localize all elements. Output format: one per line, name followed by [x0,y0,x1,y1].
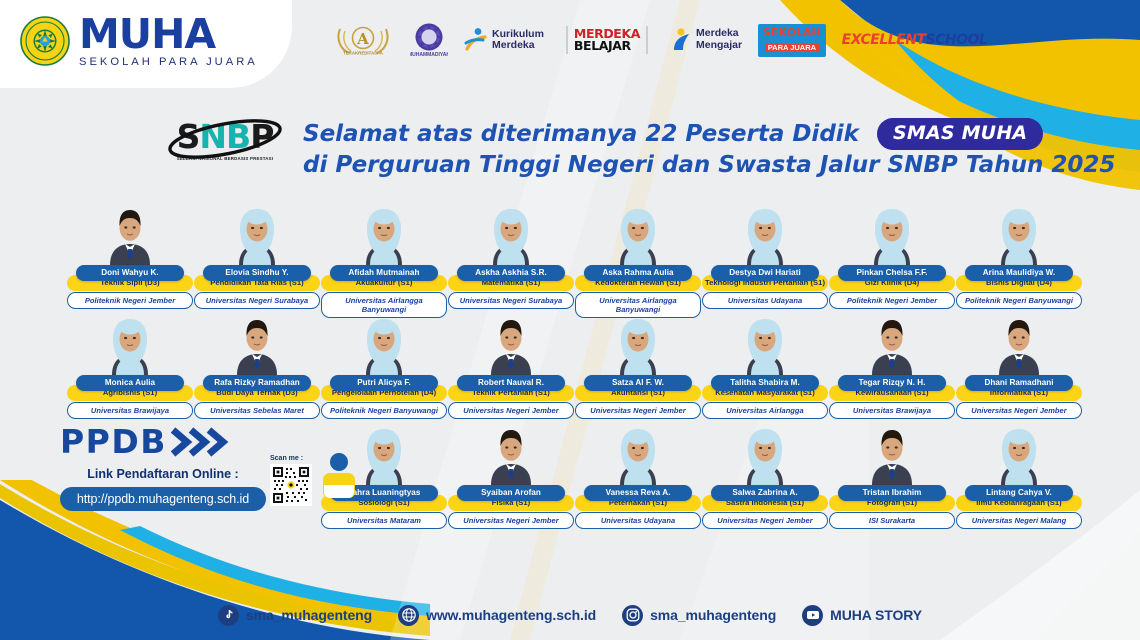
chevrons-right-icon [171,427,229,457]
student-photo [352,313,416,375]
student-photo [606,203,670,265]
student-card: Arina Maulidiya W.Bisnis Digital (D4)Pol… [956,203,1082,309]
qr-code-icon[interactable] [270,464,312,506]
student-photo [733,313,797,375]
student-university: Politeknik Negeri Jember [829,292,955,309]
school-logo: MUHA SEKOLAH PARA JUARA [20,14,258,68]
student-university: Politeknik Negeri Banyuwangi [321,402,447,419]
student-grid: Doni Wahyu K.Teknik Sipil (D3)Politeknik… [0,0,1140,640]
cert-label-belajar: BELAJAR [574,40,640,53]
student-name: Aska Rahma Aulia [584,265,692,281]
student-name: Satza Al F. W. [584,375,692,391]
student-university: Universitas Udayana [575,512,701,529]
student-university: Universitas Udayana [702,292,828,309]
student-card: Askha Askhia S.R.Matematika (S1)Universi… [448,203,574,309]
student-photo [479,423,543,485]
certification-logos: A TERAKREDITASI-A [332,12,987,68]
student-photo [98,203,162,265]
student-photo [352,423,416,485]
merdeka-belajar-icon: MERDEKA BELAJAR [560,26,654,54]
headline-line-2: di Perguruan Tinggi Negeri dan Swasta Ja… [303,150,1115,180]
student-university: Universitas Brawijaya [67,402,193,419]
student-university: Universitas Negeri Jember [448,512,574,529]
student-university: Universitas Sebelas Maret [194,402,320,419]
student-photo [860,203,924,265]
student-name: Talitha Shabira M. [711,375,819,391]
student-card: Vanessa Reva A.Peternakan (S1)Universita… [575,423,701,529]
student-name: Salwa Zabrina A. [711,485,819,501]
student-name: Askha Askhia S.R. [457,265,565,281]
globe-icon[interactable] [398,605,419,626]
social-link[interactable]: MUHA STORY [802,605,922,626]
smas-muha-badge: SMAS MUHA [877,118,1043,150]
cert-label-para-juara: PARA JUARA [765,44,819,52]
student-card: Talitha Shabira M.Kesehatan Masyarakat (… [702,313,828,419]
student-name: Tristan Ibrahim [838,485,946,501]
student-card: Tegar Rizqy N. H.Kewirausahaan (S1)Unive… [829,313,955,419]
student-name: Robert Nauval R. [457,375,565,391]
student-card: Elovia Sindhu Y.Pendidikan Tata Rias (S1… [194,203,320,309]
student-university: Politeknik Negeri Jember [67,292,193,309]
muhammadiyah-logo-icon: MUHAMMADIYAH [410,20,448,60]
poster-canvas: MUHA SEKOLAH PARA JUARA A TERAKREDITASI-… [0,0,1140,640]
student-name: Afidah Mutmainah [330,265,438,281]
student-card: Afidah MutmainahAkuakultur (S1)Universit… [321,203,447,318]
student-photo [733,423,797,485]
student-university: Universitas Negeri Surabaya [194,292,320,309]
student-card: Tristan IbrahimFotografi (S1)ISI Surakar… [829,423,955,529]
student-name: Syaiban Arofan [457,485,565,501]
student-photo [98,313,162,375]
youtube-icon[interactable] [802,605,823,626]
student-name: Putri Alicya F. [330,375,438,391]
student-photo [225,203,289,265]
student-card: Doni Wahyu K.Teknik Sipil (D3)Politeknik… [67,203,193,309]
student-card: Rafa Rizky RamadhanBudi Daya Ternak (D3)… [194,313,320,419]
ppdb-subtitle: Link Pendaftaran Online : [60,467,266,481]
social-link[interactable]: sma_muhagenteng [218,605,372,626]
cert-label-sekolah: SEKOLAH [763,27,821,38]
student-photo [733,203,797,265]
student-photo [225,313,289,375]
student-photo [987,203,1051,265]
accreditation-a-icon: A TERAKREDITASI-A [332,23,394,57]
student-photo [860,313,924,375]
mascot-icon [322,452,356,503]
social-footer: sma_muhagentengwww.muhagenteng.sch.idsma… [0,598,1140,632]
student-photo [987,423,1051,485]
excellent-school-icon: EXCELLENT SCHOOL [842,33,988,47]
student-card: Robert Nauval R.Teknik Pertanian (S1)Uni… [448,313,574,419]
scan-me-block: Scan me : [270,455,312,506]
header: MUHA SEKOLAH PARA JUARA A TERAKREDITASI-… [0,0,1140,88]
headline: Selamat atas diterimanya 22 Peserta Didi… [303,118,1115,180]
student-university: Universitas Brawijaya [829,402,955,419]
student-university: Universitas Negeri Jember [448,402,574,419]
cert-label-mengajar: Mengajar [696,40,742,52]
student-card: Satza Al F. W.Akuntansi (S1)Universitas … [575,313,701,419]
svg-text:MUHAMMADIYAH: MUHAMMADIYAH [410,52,448,58]
student-card: Syaiban ArofanFisika (S1)Universitas Neg… [448,423,574,529]
brand-tagline: SEKOLAH PARA JUARA [79,57,258,68]
student-university: Universitas Negeri Malang [956,512,1082,529]
social-label: sma_muhagenteng [246,607,372,623]
student-university: Universitas Negeri Surabaya [448,292,574,309]
student-card: Putri Alicya F.Pengelolaan Perhotelan (D… [321,313,447,419]
social-label: www.muhagenteng.sch.id [426,607,596,623]
student-university: Universitas Mataram [321,512,447,529]
ppdb-title: PPDB [60,425,167,458]
student-name: Monica Aulia [76,375,184,391]
student-university: Politeknik Negeri Banyuwangi [956,292,1082,309]
student-name: Rafa Rizky Ramadhan [203,375,311,391]
student-name: Doni Wahyu K. [76,265,184,281]
student-card: Monica AuliaAgribisnis (S1)Universitas B… [67,313,193,419]
student-photo [860,423,924,485]
muhammadiyah-seal-icon [20,16,70,66]
student-card: Aska Rahma AuliaKedokteran Hewan (S1)Uni… [575,203,701,318]
student-name: Elovia Sindhu Y. [203,265,311,281]
student-photo [606,313,670,375]
student-university: Universitas Negeri Jember [575,402,701,419]
headline-text-1: Selamat atas diterimanya 22 Peserta Didi… [303,121,859,147]
cert-label-excellent: EXCELLENT [842,33,926,47]
student-name: Dhani Ramadhani [965,375,1073,391]
kurikulum-merdeka-icon: Kurikulum Merdeka [464,27,544,53]
student-name: Pinkan Chelsa F.F. [838,265,946,281]
snbp-logo: SNBP SELEKSI NASIONAL BERDASIS PRESTASI [163,120,287,161]
student-university: ISI Surakarta [829,512,955,529]
tiktok-icon[interactable] [218,605,239,626]
ppdb-link-button[interactable]: http://ppdb.muhagenteng.sch.id [60,487,266,511]
student-card: Pinkan Chelsa F.F.Gizi Klinik (D4)Polite… [829,203,955,309]
ppdb-block: PPDB Link Pendaftaran Online : http://pp… [60,425,266,511]
student-university: Universitas Airlangga [702,402,828,419]
instagram-icon[interactable] [622,605,643,626]
student-name: Destya Dwi Hariati [711,265,819,281]
student-name: Lintang Cahya V. [965,485,1073,501]
scan-me-label: Scan me : [270,455,312,462]
headline-line-1: Selamat atas diterimanya 22 Peserta Didi… [303,118,1115,150]
student-name: Tegar Rizqy N. H. [838,375,946,391]
brand-name: MUHA [79,14,258,55]
student-card: Lintang Cahya V.Ilmu Keolahragaan (S1)Un… [956,423,1082,529]
social-label: sma_muhagenteng [650,607,776,623]
student-name: Vanessa Reva A. [584,485,692,501]
sekolah-para-juara-icon: SEKOLAH PARA JUARA [758,24,826,57]
social-label: MUHA STORY [830,607,922,623]
student-name: Arina Maulidiya W. [965,265,1073,281]
student-photo [987,313,1051,375]
student-photo [606,423,670,485]
social-link[interactable]: sma_muhagenteng [622,605,776,626]
cert-label-merdeka: Merdeka [492,40,544,51]
student-photo [479,203,543,265]
social-link[interactable]: www.muhagenteng.sch.id [398,605,596,626]
student-photo [352,203,416,265]
student-university: Universitas Negeri Jember [702,512,828,529]
student-university: Universitas Negeri Jember [956,402,1082,419]
cert-label-school: SCHOOL [926,33,988,47]
student-card: Salwa Zabrina A.Sastra Indonesia (S1)Uni… [702,423,828,529]
svg-text:TERAKREDITASI-A: TERAKREDITASI-A [343,51,384,56]
student-card: Destya Dwi HariatiTeknologi Industri Per… [702,203,828,309]
svg-text:A: A [356,30,369,48]
merdeka-mengajar-icon: Merdeka Mengajar [670,27,742,53]
student-photo [479,313,543,375]
student-card: Dhani RamadhaniInformatika (S1)Universit… [956,313,1082,419]
